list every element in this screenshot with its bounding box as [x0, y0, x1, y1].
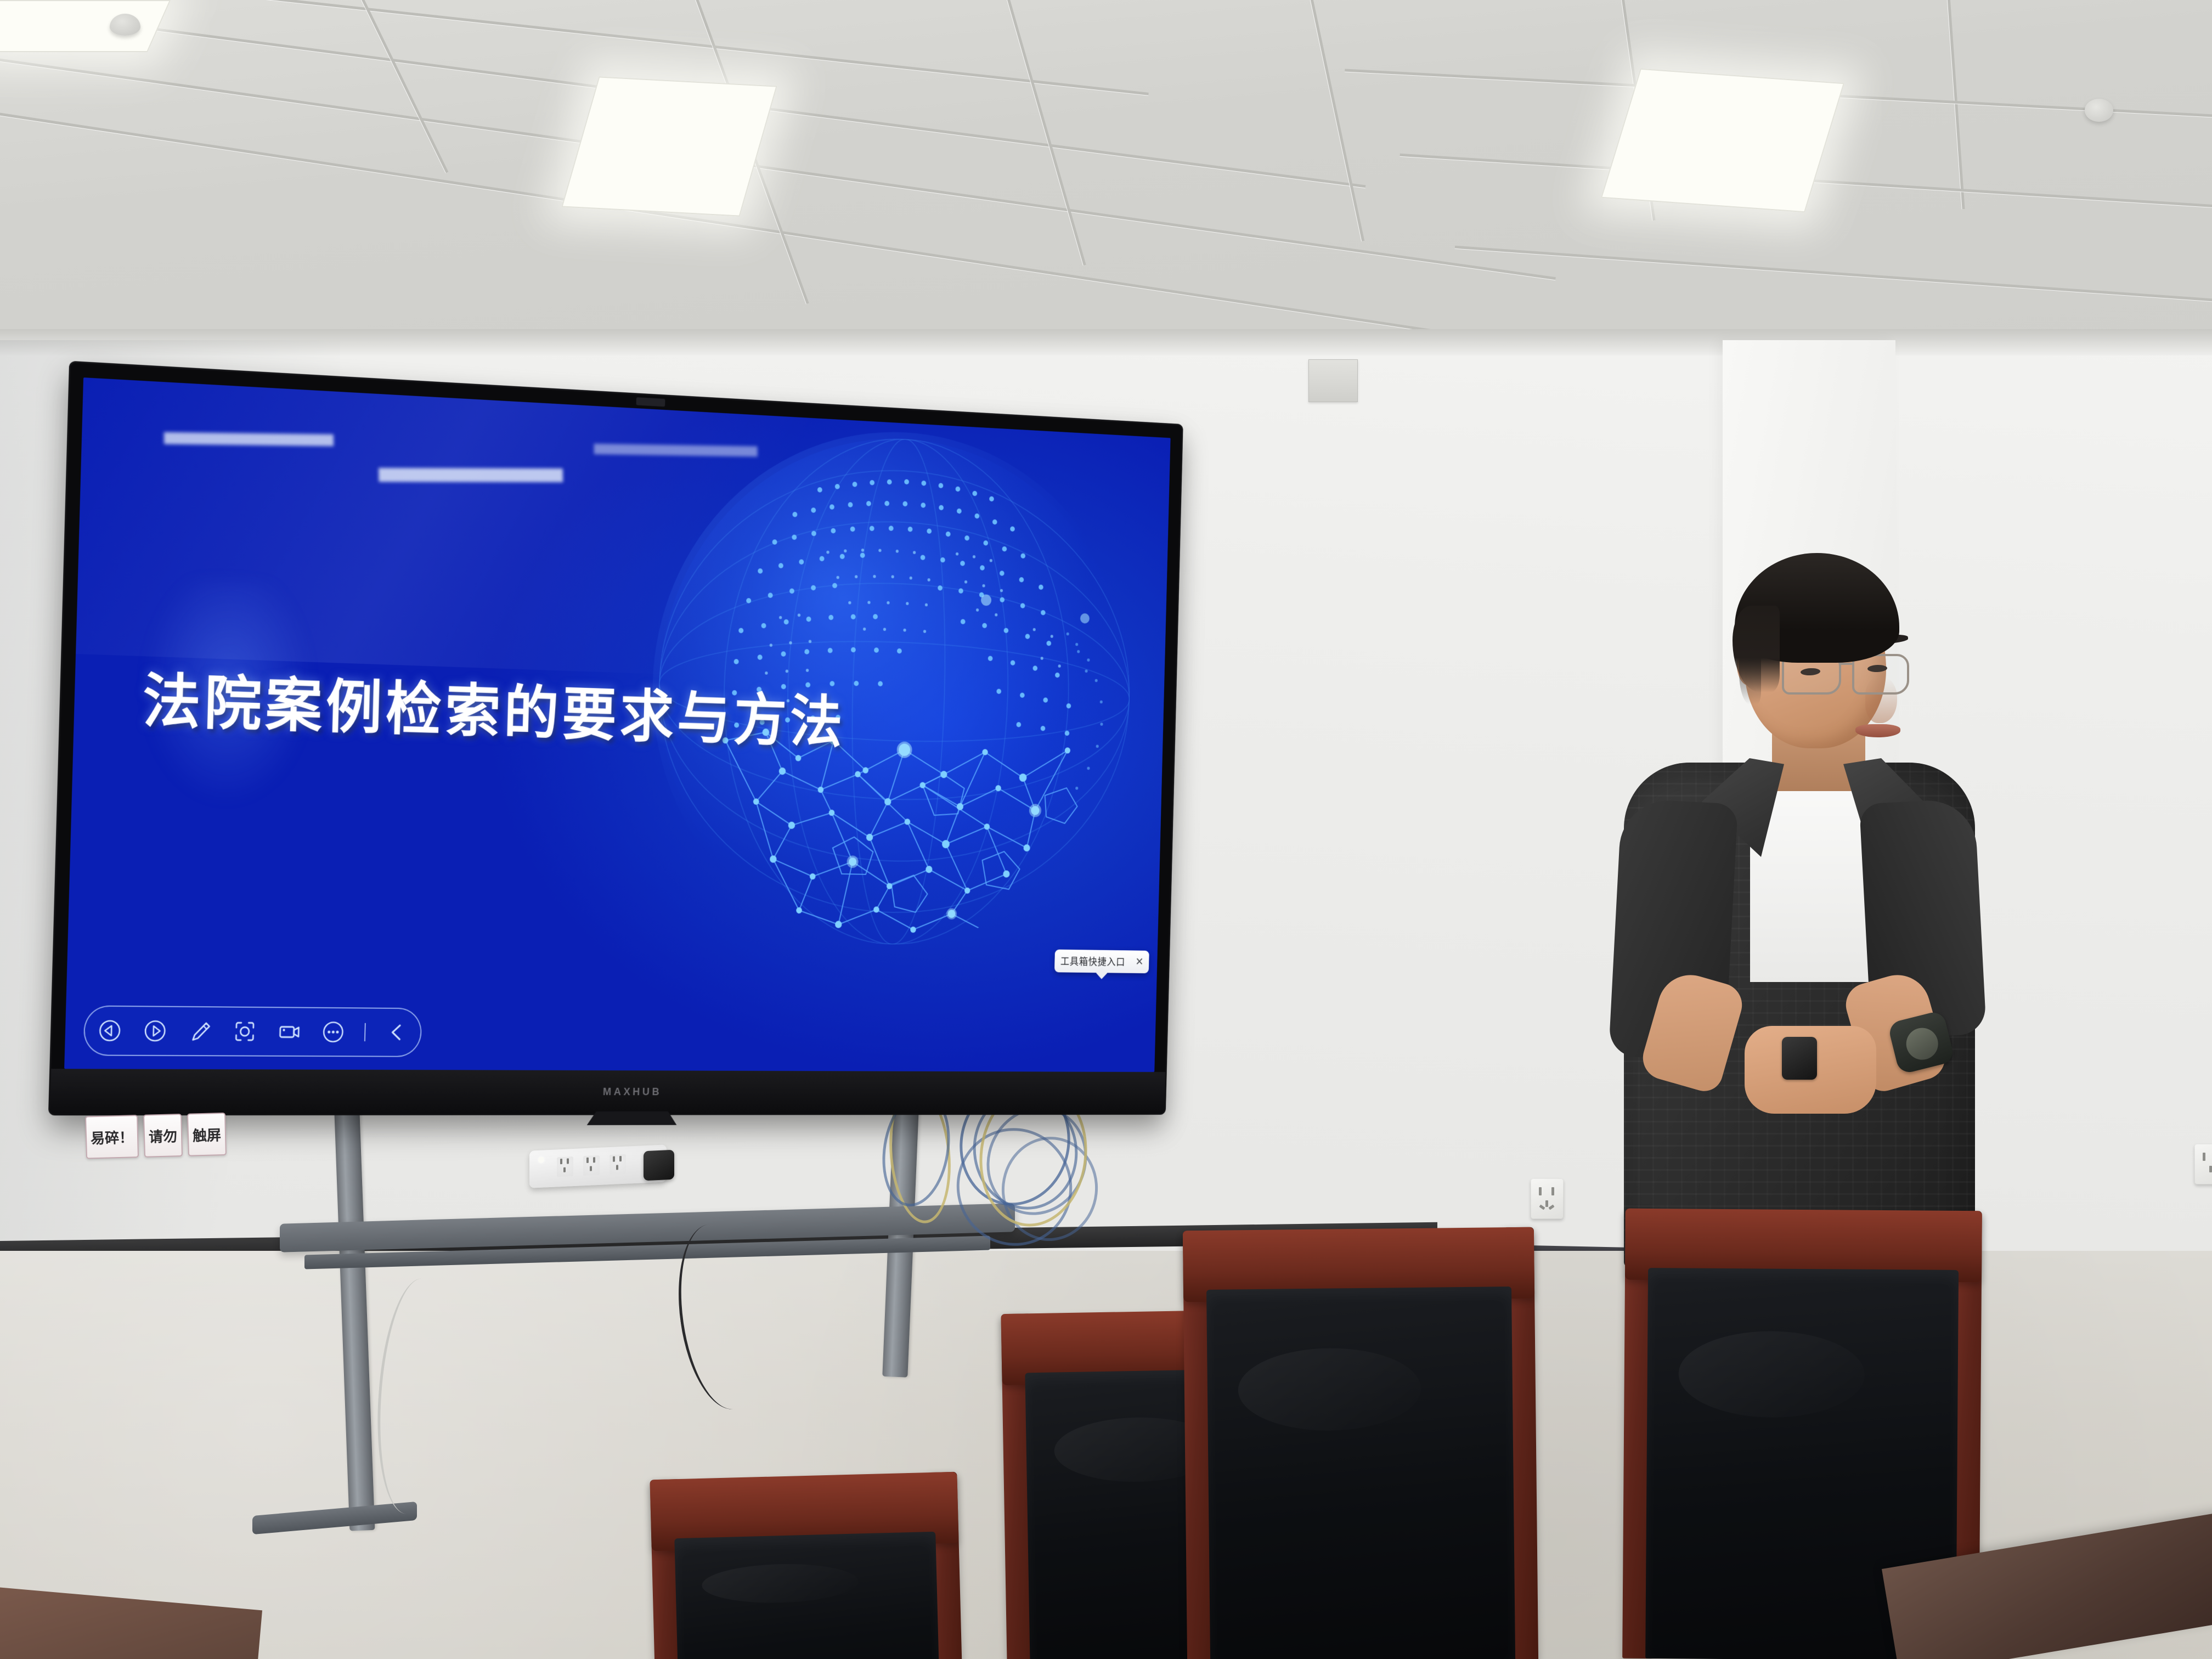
smoke-detector-icon	[110, 14, 140, 36]
next-slide-icon[interactable]	[142, 1018, 168, 1044]
warning-sign: 请勿	[143, 1114, 183, 1158]
tooltip-label: 工具箱快捷入口	[1060, 954, 1126, 968]
toolbox-shortcut-tooltip[interactable]: 工具箱快捷入口 ✕	[1054, 950, 1149, 973]
warning-sign-group: 易碎！ 请勿 触屏	[85, 1111, 278, 1159]
slide-toolbar[interactable]	[83, 1006, 422, 1057]
screen-glare-strip	[594, 444, 758, 457]
wall-outlet[interactable]	[2194, 1144, 2212, 1184]
warning-sign: 触屏	[187, 1113, 227, 1156]
ceiling-speaker-icon	[2085, 99, 2113, 122]
chair[interactable]	[650, 1472, 963, 1659]
warning-sign: 易碎！	[85, 1115, 139, 1159]
screen-record-icon[interactable]	[276, 1019, 302, 1045]
cart-foot	[252, 1502, 417, 1534]
air-vent-icon	[1308, 359, 1358, 402]
collapse-toolbar-icon[interactable]	[384, 1019, 410, 1045]
presenter-hair	[1735, 553, 1899, 663]
more-options-icon[interactable]	[320, 1019, 346, 1045]
presenter-mouth	[1855, 724, 1900, 737]
ceiling	[0, 0, 2212, 351]
display-top-camera-icon	[636, 397, 665, 407]
power-plug	[644, 1150, 674, 1181]
previous-slide-icon[interactable]	[97, 1018, 123, 1044]
display-screen[interactable]: 法院案例检索的要求与方法 工具箱快捷入口 ✕	[64, 377, 1171, 1072]
cart-post	[333, 1069, 375, 1531]
display-connector-housing	[587, 1111, 677, 1125]
spotlight-focus-icon[interactable]	[232, 1018, 258, 1045]
close-icon[interactable]: ✕	[1135, 957, 1143, 967]
ceiling-light-panel	[0, 0, 171, 52]
chair[interactable]	[1183, 1227, 1538, 1659]
pen-annotate-icon[interactable]	[187, 1018, 213, 1045]
power-strip-led	[538, 1156, 544, 1163]
display-bottom-bezel: MAXHUB	[50, 1069, 1165, 1114]
ceiling-tile-grid	[0, 0, 2212, 351]
presentation-slide: 法院案例检索的要求与方法 工具箱快捷入口 ✕	[64, 377, 1171, 1072]
presentation-clicker[interactable]	[1782, 1037, 1817, 1080]
power-strip[interactable]	[529, 1144, 667, 1188]
screen-glare-strip	[164, 432, 334, 447]
display-panel[interactable]: 法院案例检索的要求与方法 工具箱快捷入口 ✕	[50, 363, 1182, 1114]
wall-outlet[interactable]	[1531, 1178, 1564, 1219]
presenter	[1607, 543, 2002, 1267]
ceiling-light-panel	[561, 76, 777, 216]
meeting-room-scene: 法院案例检索的要求与方法 工具箱快捷入口 ✕	[0, 0, 2212, 1659]
toolbar-divider	[364, 1023, 366, 1041]
display-brand-label: MAXHUB	[603, 1086, 662, 1098]
ceiling-light-panel	[1601, 69, 1844, 213]
screen-glare-strip	[379, 468, 563, 482]
